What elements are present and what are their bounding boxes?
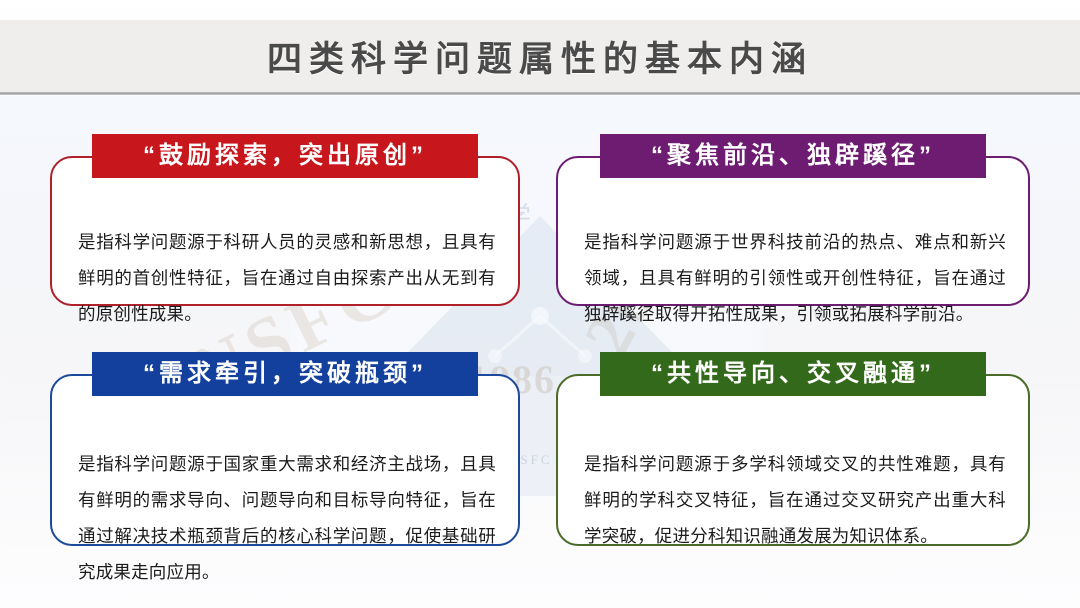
slide-canvas: 学 NSFC 2024 1986 w NSFC 四类科学问题属性的基本内涵 是指… — [0, 0, 1080, 608]
card-demand-driven[interactable]: 是指科学问题源于国家重大需求和经济主战场，且具有鲜明的需求导向、问题导向和目标导… — [50, 352, 520, 546]
card-encourage-exploration[interactable]: 是指科学问题源于科研人员的灵感和新思想，且具有鲜明的首创性特征，旨在通过自由探索… — [50, 134, 520, 306]
card-body: 是指科学问题源于科研人员的灵感和新思想，且具有鲜明的首创性特征，旨在通过自由探索… — [50, 156, 520, 306]
page-title: 四类科学问题属性的基本内涵 — [0, 20, 1080, 92]
card-body: 是指科学问题源于世界科技前沿的热点、难点和新兴领域，且具有鲜明的引领性或开创性特… — [556, 156, 1030, 306]
card-heading-ribbon: “聚焦前沿、独辟蹊径” — [600, 134, 986, 178]
card-focus-frontier[interactable]: 是指科学问题源于世界科技前沿的热点、难点和新兴领域，且具有鲜明的引领性或开创性特… — [556, 134, 1030, 306]
card-description: 是指科学问题源于国家重大需求和经济主战场，且具有鲜明的需求导向、问题导向和目标导… — [78, 446, 496, 590]
card-body: 是指科学问题源于国家重大需求和经济主战场，且具有鲜明的需求导向、问题导向和目标导… — [50, 374, 520, 546]
card-heading-ribbon: “共性导向、交叉融通” — [600, 352, 986, 396]
card-heading-ribbon: “需求牵引，突破瓶颈” — [92, 352, 478, 396]
card-description: 是指科学问题源于科研人员的灵感和新思想，且具有鲜明的首创性特征，旨在通过自由探索… — [78, 224, 496, 332]
card-heading-ribbon: “鼓励探索，突出原创” — [92, 134, 478, 178]
card-common-oriented[interactable]: 是指科学问题源于多学科领域交叉的共性难题，具有鲜明的学科交叉特征，旨在通过交叉研… — [556, 352, 1030, 546]
title-band: 四类科学问题属性的基本内涵 — [0, 20, 1080, 95]
card-description: 是指科学问题源于世界科技前沿的热点、难点和新兴领域，且具有鲜明的引领性或开创性特… — [584, 224, 1006, 332]
card-description: 是指科学问题源于多学科领域交叉的共性难题，具有鲜明的学科交叉特征，旨在通过交叉研… — [584, 446, 1006, 554]
card-body: 是指科学问题源于多学科领域交叉的共性难题，具有鲜明的学科交叉特征，旨在通过交叉研… — [556, 374, 1030, 546]
